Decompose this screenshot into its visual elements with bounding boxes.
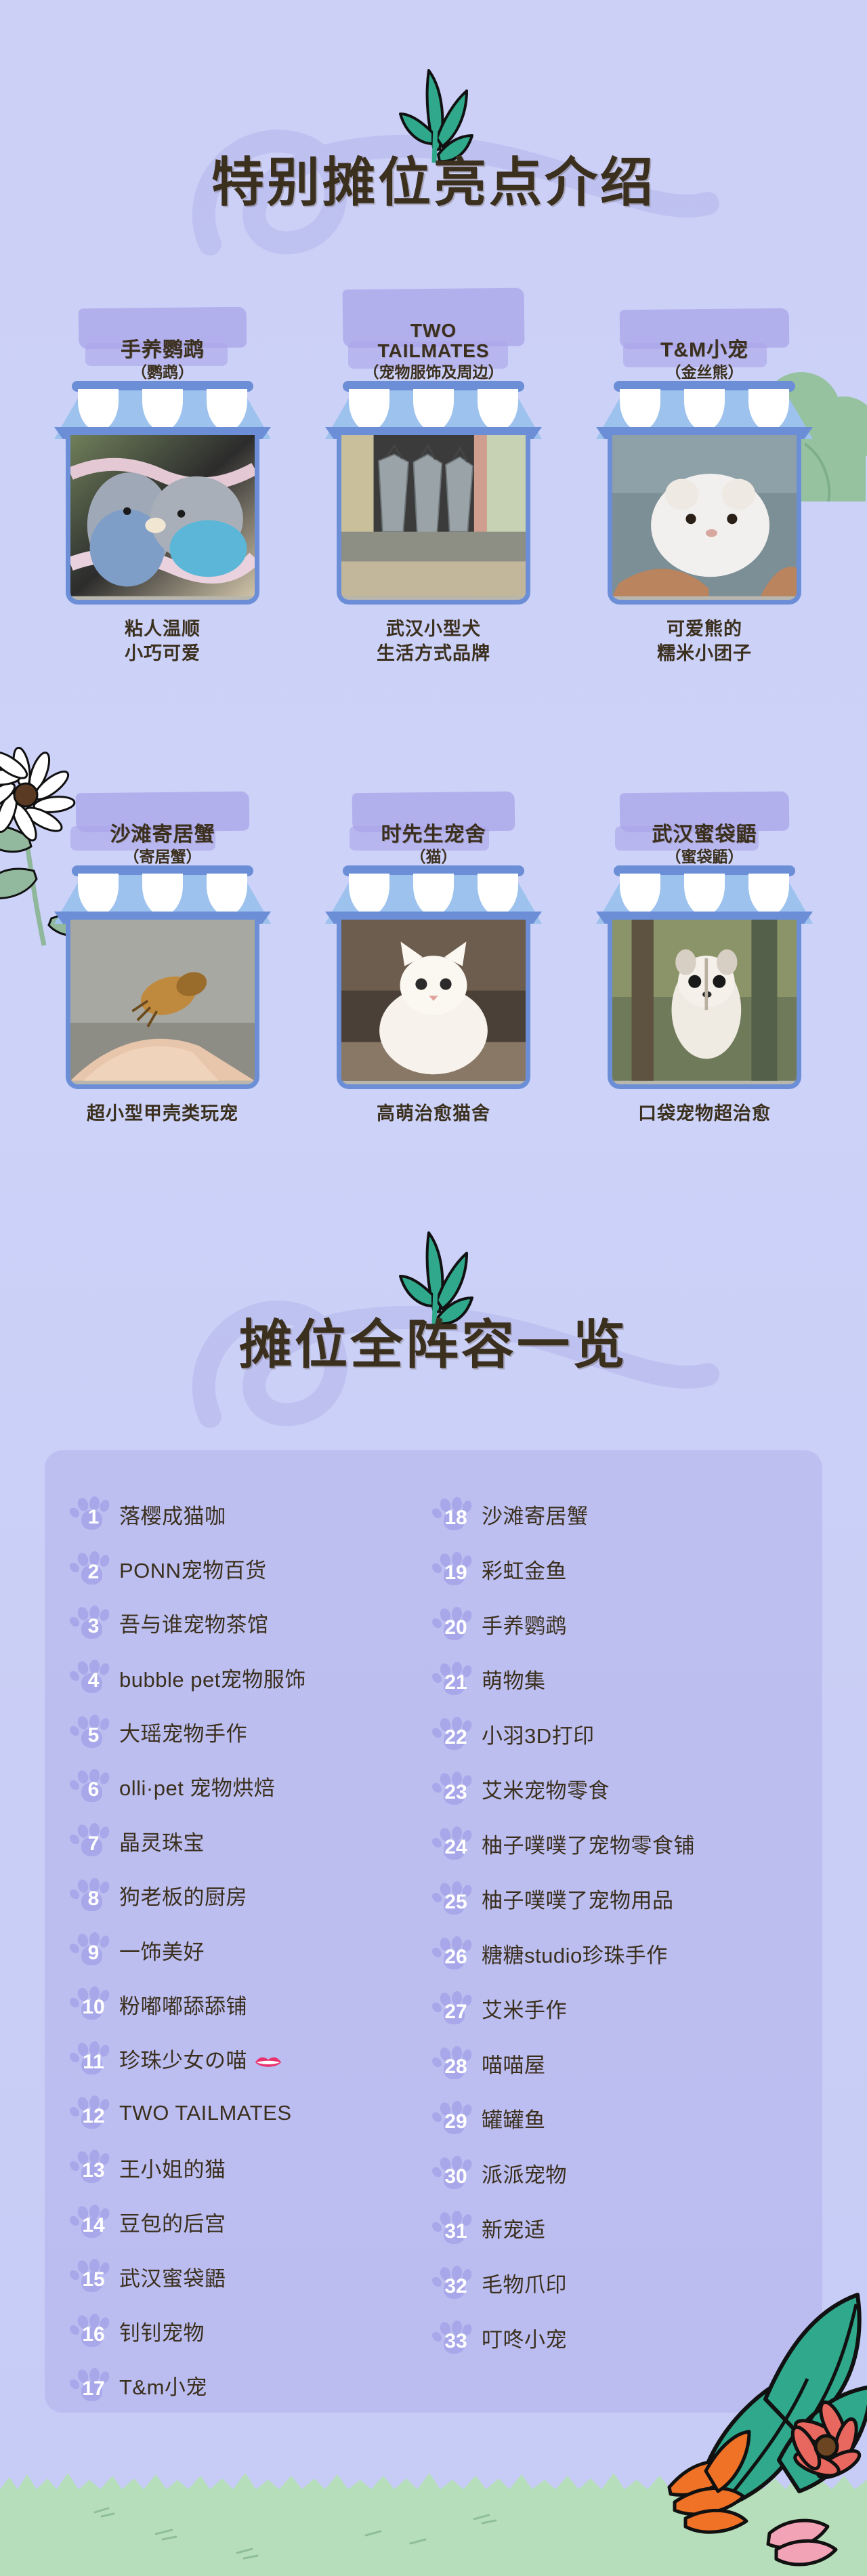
list-item-number: 29 — [431, 2101, 473, 2136]
list-item[interactable]: 31新宠适 — [431, 2201, 794, 2255]
stall-photo — [608, 435, 801, 605]
list-item[interactable]: 32毛物爪印 — [431, 2255, 794, 2310]
stall-caption: 超小型甲壳类玩宠 — [87, 1101, 238, 1126]
list-item-number: 21 — [431, 1662, 473, 1697]
stall-caption: 口袋宠物超治愈 — [638, 1101, 771, 1126]
stall-photo — [66, 435, 259, 605]
list-item-number: 6 — [69, 1769, 111, 1804]
stall-category: （蜜袋鼯） — [666, 848, 744, 865]
list-item-number: 33 — [431, 2321, 473, 2356]
awning-icon — [596, 875, 813, 924]
list-item[interactable]: 26糖糖studio珍珠手作 — [431, 1926, 794, 1981]
stall-caption: 武汉小型犬 生活方式品牌 — [377, 617, 490, 666]
list-item[interactable]: 15武汉蜜袋鼯 — [69, 2249, 431, 2304]
stall-caption: 可爱熊的 糯米小团子 — [657, 617, 752, 666]
list-item[interactable]: 6olli·pet 宠物烘焙 — [69, 1759, 431, 1814]
list-item-label: 手养鹦鹉 — [482, 1609, 567, 1639]
list-item-label: 柚子噗噗了宠物用品 — [482, 1883, 674, 1914]
stall-category: （猫） — [410, 848, 457, 865]
stall-card[interactable]: 时先生宠舍 （猫） — [308, 776, 559, 1126]
list-item-number: 28 — [431, 2046, 473, 2081]
caption-line: 生活方式品牌 — [377, 643, 490, 663]
list-item-label: 糖糖studio珍珠手作 — [482, 1938, 668, 1969]
list-item[interactable]: 5大瑶宠物手作 — [69, 1704, 431, 1759]
stall-name: T&M小宠 — [660, 340, 748, 361]
list-item-label: 罐罐鱼 — [482, 2103, 546, 2133]
list-item-label: 彩虹金鱼 — [482, 1554, 567, 1585]
list-item[interactable]: 14豆包的后宫 — [69, 2195, 431, 2249]
list-item-label: TWO TAILMATES — [119, 2101, 292, 2125]
stall-name: 手养鹦鹉 — [121, 340, 205, 361]
stall-photo — [337, 435, 530, 605]
stall-graphic — [54, 865, 271, 1089]
list-item[interactable]: 8狗老板的厨房 — [69, 1868, 431, 1923]
list-item[interactable]: 27艾米手作 — [431, 1981, 794, 2036]
stall-category: （金丝熊） — [666, 363, 744, 381]
stall-label: 时先生宠舍 （猫） — [308, 776, 559, 865]
list-item-number: 32 — [431, 2266, 473, 2301]
list-item-number: 19 — [431, 1552, 473, 1587]
stall-category: （鹦鹉） — [131, 363, 194, 381]
stall-label: 手养鹦鹉 （鹦鹉） — [37, 291, 289, 381]
list-item[interactable]: 18沙滩寄居蟹 — [431, 1487, 794, 1542]
stall-card[interactable]: 沙滩寄居蟹 （寄居蟹） — [37, 776, 289, 1126]
stall-card[interactable]: 手养鹦鹉 （鹦鹉） — [37, 291, 289, 666]
awning-icon — [596, 390, 813, 439]
list-item-label: 王小姐的猫 — [119, 2152, 226, 2183]
awning-icon — [325, 875, 542, 924]
stall-name: 武汉蜜袋鼯 — [652, 824, 757, 846]
list-item-number: 22 — [431, 1717, 473, 1752]
list-item-number: 26 — [431, 1936, 473, 1971]
section-2: 摊位全阵容一览 — [0, 1318, 867, 1371]
stall-graphic — [325, 865, 542, 1089]
list-item-label: 武汉蜜袋鼯 — [119, 2262, 226, 2292]
awning-icon — [54, 390, 271, 439]
list-item[interactable]: 2PONN宠物百货 — [69, 1541, 431, 1595]
stall-list-right-column: 18沙滩寄居蟹19彩虹金鱼20手养鹦鹉21萌物集22小羽3D打印23艾米宠物零食… — [431, 1487, 794, 2413]
list-item-label: 柚子噗噗了宠物零食铺 — [482, 1828, 695, 1859]
stall-card[interactable]: T&M小宠 （金丝熊） — [578, 291, 830, 666]
list-item[interactable]: 28喵喵屋 — [431, 2036, 794, 2091]
list-item-number: 9 — [69, 1932, 111, 1967]
list-item-number: 24 — [431, 1826, 473, 1862]
stall-caption: 粘人温顺 小巧可爱 — [125, 617, 200, 666]
stall-photo — [337, 920, 530, 1089]
featured-row-2: 沙滩寄居蟹 （寄居蟹） — [0, 776, 867, 1126]
stall-category: （宠物服饰及周边） — [364, 363, 504, 381]
stall-name: 沙滩寄居蟹 — [110, 824, 215, 846]
list-item-label: bubble pet宠物服饰 — [119, 1662, 306, 1693]
caption-line: 高萌治愈猫舍 — [377, 1103, 490, 1124]
list-item-label: 豆包的后宫 — [119, 2207, 226, 2237]
list-item-number: 25 — [431, 1881, 473, 1917]
list-item-number: 3 — [69, 1606, 111, 1641]
list-item[interactable]: 19彩虹金鱼 — [431, 1542, 794, 1597]
list-item[interactable]: 33叮咚小宠 — [431, 2310, 794, 2365]
list-item-label: 晶灵珠宝 — [119, 1826, 205, 1856]
list-item-number: 1 — [69, 1496, 111, 1532]
caption-line: 口袋宠物超治愈 — [638, 1103, 771, 1124]
list-item-label: 派派宠物 — [482, 2158, 567, 2188]
stall-graphic — [596, 381, 813, 605]
list-item-number: 7 — [69, 1823, 111, 1858]
list-item[interactable]: 7晶灵珠宝 — [69, 1814, 431, 1868]
list-item-label: 落樱成猫咖 — [119, 1499, 226, 1530]
stall-name: TWO TAILMATES — [377, 321, 489, 361]
list-item-label: T&m小宠 — [119, 2370, 207, 2400]
stall-graphic — [54, 381, 271, 605]
list-item-number: 8 — [69, 1878, 111, 1913]
caption-line: 小巧可爱 — [125, 643, 200, 663]
list-item-label: 粉嘟嘟舔舔铺 — [119, 1989, 247, 2020]
list-item-label: PONN宠物百货 — [119, 1553, 267, 1584]
stall-card[interactable]: TWO TAILMATES （宠物服饰及周边） — [308, 291, 559, 666]
list-item[interactable]: 17T&m小宠 — [69, 2358, 431, 2413]
list-item[interactable]: 24柚子噗噗了宠物零食铺 — [431, 1816, 794, 1871]
grass-strip-icon — [0, 2454, 867, 2576]
list-item-label: 新宠适 — [482, 2213, 546, 2243]
stall-label: TWO TAILMATES （宠物服饰及周边） — [308, 291, 559, 381]
caption-line: 可爱熊的 — [667, 619, 742, 639]
stall-category: （寄居蟹） — [124, 848, 202, 865]
awning-icon — [325, 390, 542, 439]
list-item-number: 23 — [431, 1772, 473, 1807]
lips-icon — [254, 2051, 282, 2066]
list-item-label: 狗老板的厨房 — [119, 1880, 247, 1910]
leaf-sprig-icon — [389, 62, 478, 164]
list-item-number: 17 — [69, 2368, 111, 2403]
list-item[interactable]: 29罐罐鱼 — [431, 2091, 794, 2146]
list-item-label: 艾米宠物零食 — [482, 1774, 610, 1804]
list-item-label: 叮咚小宠 — [482, 2323, 567, 2353]
list-item-number: 31 — [431, 2211, 473, 2246]
caption-line: 糯米小团子 — [657, 643, 752, 663]
awning-icon — [54, 875, 271, 924]
list-item[interactable]: 9一饰美好 — [69, 1923, 431, 1977]
stall-label: 沙滩寄居蟹 （寄居蟹） — [37, 776, 289, 865]
list-item-label: 沙滩寄居蟹 — [482, 1499, 589, 1530]
list-item-label: 萌物集 — [482, 1664, 546, 1694]
list-item[interactable]: 11珍珠少女の喵 — [69, 2032, 431, 2086]
list-item-label: 珍珠少女の喵 — [119, 2043, 282, 2074]
list-item-label: 钊钊宠物 — [119, 2316, 205, 2346]
list-item-label: olli·pet 宠物烘焙 — [119, 1771, 275, 1801]
caption-line: 粘人温顺 — [125, 619, 200, 639]
stall-photo — [608, 920, 801, 1089]
leaf-sprig-icon — [389, 1225, 478, 1326]
page-title: 特别摊位亮点介绍 — [211, 156, 656, 209]
list-item-number: 5 — [69, 1715, 111, 1750]
list-item[interactable]: 30派派宠物 — [431, 2146, 794, 2201]
list-item-number: 20 — [431, 1607, 473, 1642]
list-item-number: 12 — [69, 2095, 111, 2131]
list-item[interactable]: 3吾与谁宠物茶馆 — [69, 1596, 431, 1650]
list-item-number: 2 — [69, 1551, 111, 1587]
stall-graphic — [596, 865, 813, 1089]
list-item-number: 14 — [69, 2205, 111, 2240]
featured-row-1: 手养鹦鹉 （鹦鹉） — [0, 291, 867, 666]
list-item[interactable]: 25柚子噗噗了宠物用品 — [431, 1871, 794, 1926]
stall-list-left-column: 1落樱成猫咖2PONN宠物百货3吾与谁宠物茶馆4bubble pet宠物服饰5大… — [69, 1487, 431, 2413]
list-item-number: 4 — [69, 1660, 111, 1695]
list-item-number: 11 — [69, 2041, 111, 2077]
caption-line: 超小型甲壳类玩宠 — [87, 1103, 238, 1124]
stall-graphic — [325, 381, 542, 605]
list-item-number: 13 — [69, 2150, 111, 2185]
list-item-label: 吾与谁宠物茶馆 — [119, 1608, 269, 1638]
list-item-number: 15 — [69, 2259, 111, 2294]
list-item[interactable]: 12TWO TAILMATES — [69, 2086, 431, 2140]
list-item-number: 27 — [431, 1991, 473, 2026]
list-item[interactable]: 1落樱成猫咖 — [69, 1487, 431, 1541]
list-item[interactable]: 23艾米宠物零食 — [431, 1761, 794, 1816]
stall-name: 时先生宠舍 — [381, 824, 486, 846]
list-item-label: 艾米手作 — [482, 1993, 567, 2024]
list-item[interactable]: 21萌物集 — [431, 1652, 794, 1706]
stall-photo — [66, 920, 259, 1089]
stall-card[interactable]: 武汉蜜袋鼯 （蜜袋鼯） — [578, 776, 830, 1126]
list-item-label: 喵喵屋 — [482, 2048, 546, 2079]
list-item-label: 小羽3D打印 — [482, 1719, 595, 1749]
list-item-label: 毛物爪印 — [482, 2268, 567, 2298]
list-item-number: 18 — [431, 1497, 473, 1532]
stall-label: 武汉蜜袋鼯 （蜜袋鼯） — [578, 776, 830, 865]
list-item[interactable]: 16钊钊宠物 — [69, 2304, 431, 2358]
list-item[interactable]: 10粉嘟嘟舔舔铺 — [69, 1977, 431, 2031]
page-subtitle: 摊位全阵容一览 — [239, 1318, 628, 1371]
stall-list-panel: 1落樱成猫咖2PONN宠物百货3吾与谁宠物茶馆4bubble pet宠物服饰5大… — [45, 1450, 822, 2413]
list-item[interactable]: 13王小姐的猫 — [69, 2140, 431, 2194]
section-1: 特别摊位亮点介绍 — [0, 156, 867, 209]
list-item-number: 16 — [69, 2314, 111, 2349]
list-item[interactable]: 20手养鹦鹉 — [431, 1597, 794, 1652]
list-item-number: 30 — [431, 2156, 473, 2191]
list-item-number: 10 — [69, 1986, 111, 2022]
stall-label: T&M小宠 （金丝熊） — [578, 291, 830, 381]
list-item-label: 一饰美好 — [119, 1935, 205, 1965]
list-item[interactable]: 4bubble pet宠物服饰 — [69, 1650, 431, 1704]
stall-caption: 高萌治愈猫舍 — [377, 1101, 490, 1126]
caption-line: 武汉小型犬 — [386, 619, 481, 639]
list-item-label: 大瑶宠物手作 — [119, 1717, 247, 1747]
list-item[interactable]: 22小羽3D打印 — [431, 1706, 794, 1761]
